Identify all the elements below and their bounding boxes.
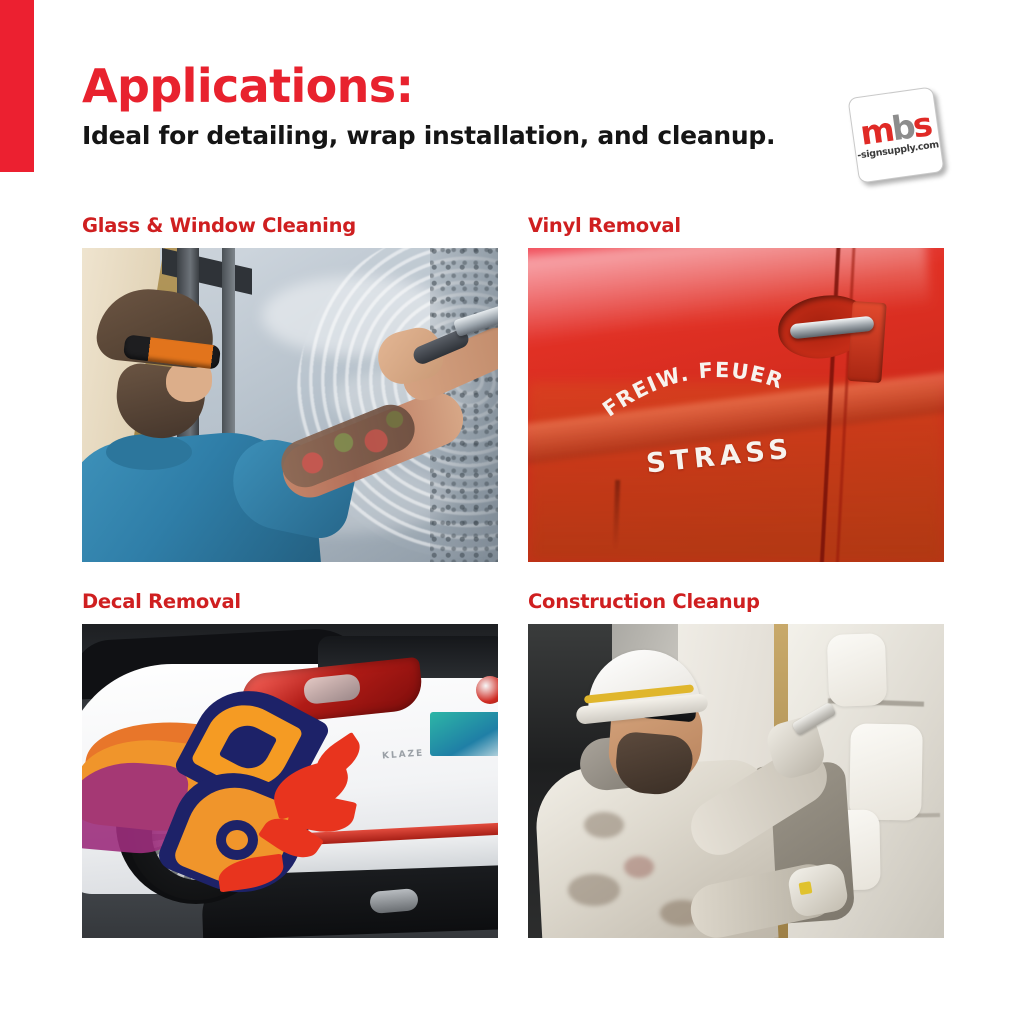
page-subtitle: Ideal for detailing, wrap installation, … [82,121,775,150]
car-emblem [476,676,498,704]
page-title: Applications: [82,62,775,110]
header: Applications: Ideal for detailing, wrap … [82,62,775,150]
decal-line-1: FREIW. FEUERWEHR [590,339,787,422]
cell-title-glass-window-cleaning: Glass & Window Cleaning [82,214,498,248]
graphic-swirl [226,830,248,850]
license-plate [430,712,498,756]
joint-compound-patch [827,633,887,707]
decal-arc-text: FREIW. FEUERWEHR [602,358,782,424]
decal-removal-photo: KLAZE [82,624,498,938]
svg-text:FREIW. FEUERWEHR: FREIW. FEUERWEHR [590,339,787,422]
accent-bar [0,0,34,172]
logo-card: mbs -signsupply.com [847,86,944,183]
cell-title-decal-removal: Decal Removal [82,590,498,624]
applications-slide: Applications: Ideal for detailing, wrap … [0,0,1024,1024]
application-cell: Vinyl Removal FREIW. FEUERWEHR [528,214,944,562]
glove-tag [799,881,813,895]
jacket-stain [568,874,620,906]
construction-cleanup-photo [528,624,944,938]
vinyl-graphic [82,670,376,900]
jacket-stain [624,856,654,878]
worker-neck [106,434,192,470]
cell-title-construction-cleanup: Construction Cleanup [528,590,944,624]
glass-window-cleaning-photo [82,248,498,562]
cell-title-vinyl-removal: Vinyl Removal [528,214,944,248]
brand-logo[interactable]: mbs -signsupply.com [845,84,949,188]
lock-plate [847,301,886,383]
joint-compound-patch [849,723,923,820]
application-cell: Decal Removal KLAZE [82,590,498,938]
application-cell: Construction Cleanup [528,590,944,938]
application-cell: Glass & Window Cleaning [82,214,498,562]
vinyl-removal-photo: FREIW. FEUERWEHR STRASS [528,248,944,562]
jacket-stain [584,812,624,838]
